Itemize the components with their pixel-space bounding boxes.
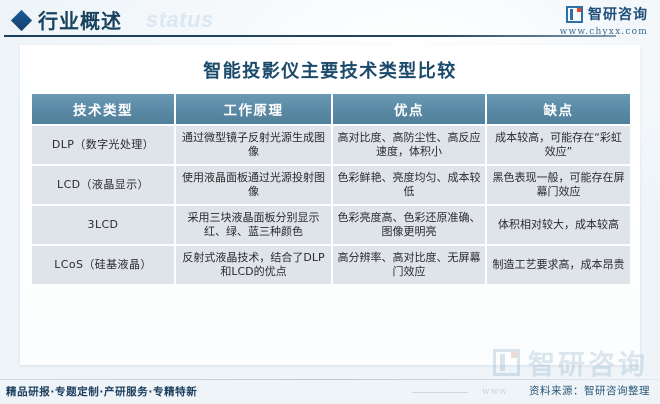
cell-tech: 3LCD [32, 206, 174, 244]
cell-pros: 高分辨率、高对比度、无屏幕门效应 [333, 246, 485, 284]
cell-tech: LCoS（硅基液晶） [32, 246, 174, 284]
footer-www-text: www [482, 387, 508, 397]
cell-tech: LCD（液晶显示） [32, 166, 174, 204]
cell-principle: 通过微型镜子反射光源生成图像 [176, 126, 331, 164]
brand-block: 智研咨询 www.chyxx.com [560, 4, 648, 37]
comparison-table: 技术类型 工作原理 优点 缺点 DLP（数字光处理） 通过微型镜子反射光源生成图… [30, 92, 632, 286]
brand-url: www.chyxx.com [560, 27, 648, 37]
table-row: 3LCD 采用三块液晶面板分别显示红、绿、蓝三种颜色 色彩亮度高、色彩还原准确、… [32, 206, 630, 244]
table-row: DLP（数字光处理） 通过微型镜子反射光源生成图像 高对比度、高防尘性、高反应速… [32, 126, 630, 164]
cell-principle: 采用三块液晶面板分别显示红、绿、蓝三种颜色 [176, 206, 331, 244]
ghost-status-text: status [146, 7, 214, 33]
footer-lead-line [412, 392, 468, 393]
cell-cons: 成本较高，可能存在“彩虹效应” [487, 126, 630, 164]
cell-pros: 色彩鲜艳、亮度均匀、成本较低 [333, 166, 485, 204]
footer-tagline: 精品研报·专题定制·产研服务·专精特新 [6, 384, 197, 399]
footer-divider [0, 379, 660, 380]
page-title: 行业概述 [38, 5, 122, 34]
column-header-tech: 技术类型 [32, 94, 174, 124]
table-row: LCoS（硅基液晶） 反射式液晶技术，结合了DLP和LCD的优点 高分辨率、高对… [32, 246, 630, 284]
zhiyan-logo-icon [566, 6, 583, 23]
footer-source: 资料来源：智研咨询整理 [529, 383, 650, 398]
column-header-cons: 缺点 [487, 94, 630, 124]
column-header-principle: 工作原理 [176, 94, 331, 124]
cell-cons: 制造工艺要求高，成本昂贵 [487, 246, 630, 284]
cell-principle: 反射式液晶技术，结合了DLP和LCD的优点 [176, 246, 331, 284]
table-row: LCD（液晶显示） 使用液晶面板通过光源投射图像 色彩鲜艳、亮度均匀、成本较低 … [32, 166, 630, 204]
column-header-pros: 优点 [333, 94, 485, 124]
cell-pros: 高对比度、高防尘性、高反应速度，体积小 [333, 126, 485, 164]
cell-tech: DLP（数字光处理） [32, 126, 174, 164]
card-title: 智能投影仪主要技术类型比较 [20, 45, 640, 92]
cell-cons: 体积相对较大，成本较高 [487, 206, 630, 244]
table-header-row: 技术类型 工作原理 优点 缺点 [32, 94, 630, 124]
brand-name: 智研咨询 [588, 4, 648, 24]
breadcrumb: 行业概述 [14, 5, 122, 34]
slide-header: 智 status 行业概述 智研咨询 www.chyxx.com [0, 0, 660, 39]
comparison-card: 智能投影仪主要技术类型比较 技术类型 工作原理 优点 缺点 DLP（数字光处理）… [20, 45, 640, 365]
cell-principle: 使用液晶面板通过光源投射图像 [176, 166, 331, 204]
cell-pros: 色彩亮度高、色彩还原准确、图像更明亮 [333, 206, 485, 244]
cell-cons: 黑色表现一般，可能存在屏幕门效应 [487, 166, 630, 204]
header-divider [4, 35, 616, 37]
slide-background: 智 status 行业概述 智研咨询 www.chyxx.com 智能投影仪主要… [0, 0, 660, 404]
diamond-bullet-icon [11, 10, 32, 31]
